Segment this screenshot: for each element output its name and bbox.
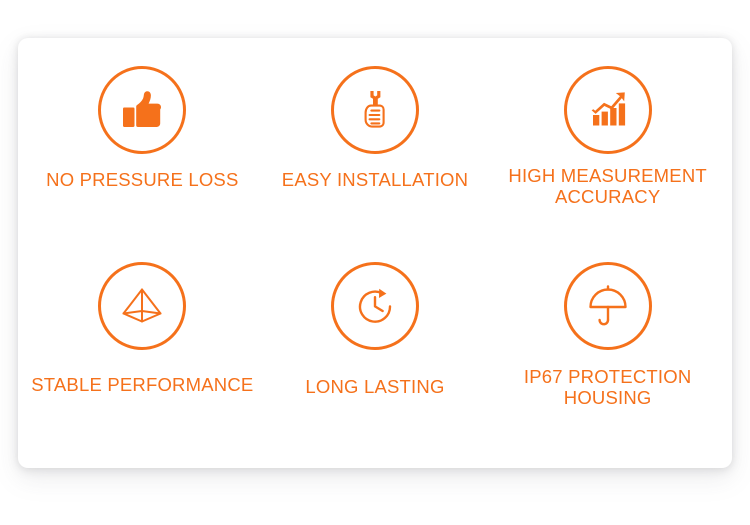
growth-bar-chart-icon: [582, 84, 634, 136]
feature-label: LONG LASTING: [305, 376, 444, 397]
umbrella-icon: [582, 280, 634, 332]
feature-item-easy-installation: EASY INSTALLATION: [259, 58, 492, 248]
icon-circle: [98, 66, 186, 154]
feature-label: EASY INSTALLATION: [282, 169, 468, 190]
icon-circle: [331, 262, 419, 350]
feature-item-stable-performance: STABLE PERFORMANCE: [26, 248, 259, 438]
feature-item-high-measurement-accuracy: HIGH MEASUREMENT ACCURACY: [491, 58, 724, 248]
feature-item-ip67-protection-housing: IP67 PROTECTION HOUSING: [491, 248, 724, 438]
hand-holding-wrench-icon: [349, 84, 401, 136]
icon-circle: [331, 66, 419, 154]
feature-item-long-lasting: LONG LASTING: [259, 248, 492, 438]
clock-arrow-icon: [349, 280, 401, 332]
thumbs-up-icon: [116, 84, 168, 136]
icon-circle: [564, 262, 652, 350]
feature-label: NO PRESSURE LOSS: [46, 169, 238, 190]
icon-circle: [564, 66, 652, 154]
feature-item-no-pressure-loss: NO PRESSURE LOSS: [26, 58, 259, 248]
feature-label: HIGH MEASUREMENT ACCURACY: [508, 165, 707, 207]
icon-circle: [98, 262, 186, 350]
feature-label: STABLE PERFORMANCE: [31, 374, 253, 395]
feature-grid: NO PRESSURE LOSS: [18, 38, 732, 468]
pyramid-wireframe-icon: [116, 280, 168, 332]
feature-highlights-card: NO PRESSURE LOSS: [18, 38, 732, 468]
feature-label: IP67 PROTECTION HOUSING: [524, 366, 691, 408]
